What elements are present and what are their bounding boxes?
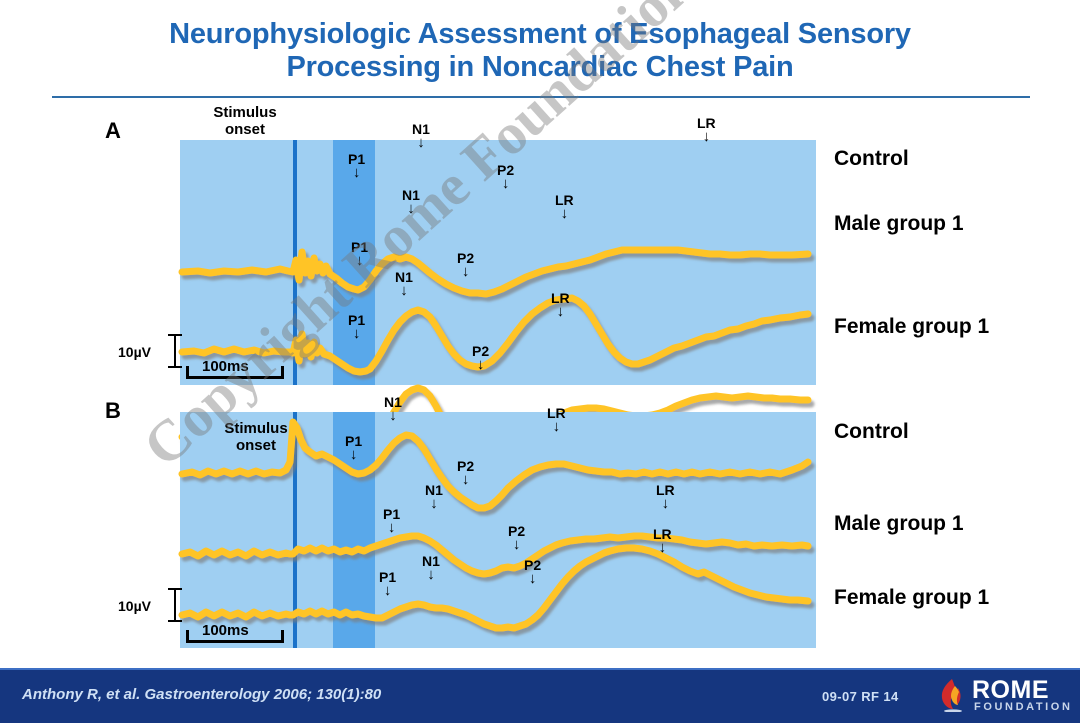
marker-a-female-p2: P2↓ — [472, 344, 489, 372]
panel-a-stimulus-onset-label: Stimulus onset — [185, 104, 305, 139]
footer-code: 09-07 RF 14 — [822, 689, 899, 704]
scale-a-voltage-label: 10µV — [118, 344, 151, 360]
rome-foundation-logo: ROME FOUNDATION — [938, 676, 1070, 716]
marker-a-control-p1: P1↓ — [348, 152, 365, 180]
trace-a-male — [182, 298, 808, 372]
trace-b-female — [182, 548, 808, 628]
marker-b-male-n1: N1↓ — [425, 483, 443, 511]
figure-container: A Stimulus onset P1↓ N1↓ P2↓ LR↓ P1↓ N1↓ — [0, 100, 1080, 660]
marker-a-control-lr: LR↓ — [697, 116, 716, 144]
marker-b-control-p2: P2↓ — [457, 459, 474, 487]
scale-b-voltage-label: 10µV — [118, 598, 151, 614]
marker-a-control-n1: N1↓ — [412, 122, 430, 150]
row-label-b-control: Control — [834, 420, 909, 444]
row-label-a-female: Female group 1 — [834, 315, 989, 339]
trace-a-control — [182, 250, 808, 294]
page-title: Neurophysiologic Assessment of Esophagea… — [50, 18, 1030, 84]
scale-a-voltage-cap-bottom — [168, 366, 182, 368]
marker-a-female-lr: LR↓ — [551, 291, 570, 319]
marker-a-control-p2: P2↓ — [497, 163, 514, 191]
scale-b-time-tick-right — [281, 630, 284, 641]
marker-b-male-lr: LR↓ — [656, 483, 675, 511]
marker-b-female-lr: LR↓ — [653, 527, 672, 555]
scale-b-time-bar — [186, 640, 284, 643]
scale-b-time-tick-left — [186, 630, 189, 641]
footer-bar: Anthony R, et al. Gastroenterology 2006;… — [0, 668, 1080, 723]
marker-b-control-n1: N1↓ — [384, 395, 402, 423]
title-line-1: Neurophysiologic Assessment of Esophagea… — [50, 18, 1030, 51]
scale-a-time-tick-right — [281, 366, 284, 377]
footer-citation: Anthony R, et al. Gastroenterology 2006;… — [22, 686, 381, 703]
panel-b-stimulus-onset-label: Stimulus onset — [196, 420, 316, 455]
scale-b-time-label: 100ms — [202, 622, 249, 639]
panel-letter-b: B — [105, 398, 121, 424]
scale-a-time-bar — [186, 376, 284, 379]
marker-b-control-lr: LR↓ — [547, 406, 566, 434]
scale-b-voltage-cap-top — [168, 588, 182, 590]
scale-a-voltage-bar — [174, 334, 176, 368]
title-line-2: Processing in Noncardiac Chest Pain — [50, 51, 1030, 84]
marker-b-male-p2: P2↓ — [508, 524, 525, 552]
row-label-a-male: Male group 1 — [834, 212, 964, 236]
row-label-a-control: Control — [834, 147, 909, 171]
scale-b-voltage-cap-bottom — [168, 620, 182, 622]
row-label-b-female: Female group 1 — [834, 586, 989, 610]
scale-a-voltage-cap-top — [168, 334, 182, 336]
flame-icon — [938, 678, 968, 712]
marker-a-male-p2: P2↓ — [457, 251, 474, 279]
scale-b-voltage-bar — [174, 588, 176, 622]
marker-a-male-lr: LR↓ — [555, 193, 574, 221]
scale-a-time-tick-left — [186, 366, 189, 377]
marker-b-control-p1: P1↓ — [345, 434, 362, 462]
panel-letter-a: A — [105, 118, 121, 144]
title-divider — [52, 96, 1030, 98]
row-label-b-male: Male group 1 — [834, 512, 964, 536]
marker-b-female-p2: P2↓ — [524, 558, 541, 586]
trace-b-male — [182, 536, 808, 574]
marker-b-male-p1: P1↓ — [383, 507, 400, 535]
marker-b-female-n1: N1↓ — [422, 554, 440, 582]
marker-a-female-n1: N1↓ — [395, 270, 413, 298]
scale-a-time-label: 100ms — [202, 358, 249, 375]
marker-a-male-p1: P1↓ — [351, 240, 368, 268]
logo-subtitle: FOUNDATION — [974, 701, 1073, 713]
marker-a-female-p1: P1↓ — [348, 313, 365, 341]
marker-a-male-n1: N1↓ — [402, 188, 420, 216]
marker-b-female-p1: P1↓ — [379, 570, 396, 598]
